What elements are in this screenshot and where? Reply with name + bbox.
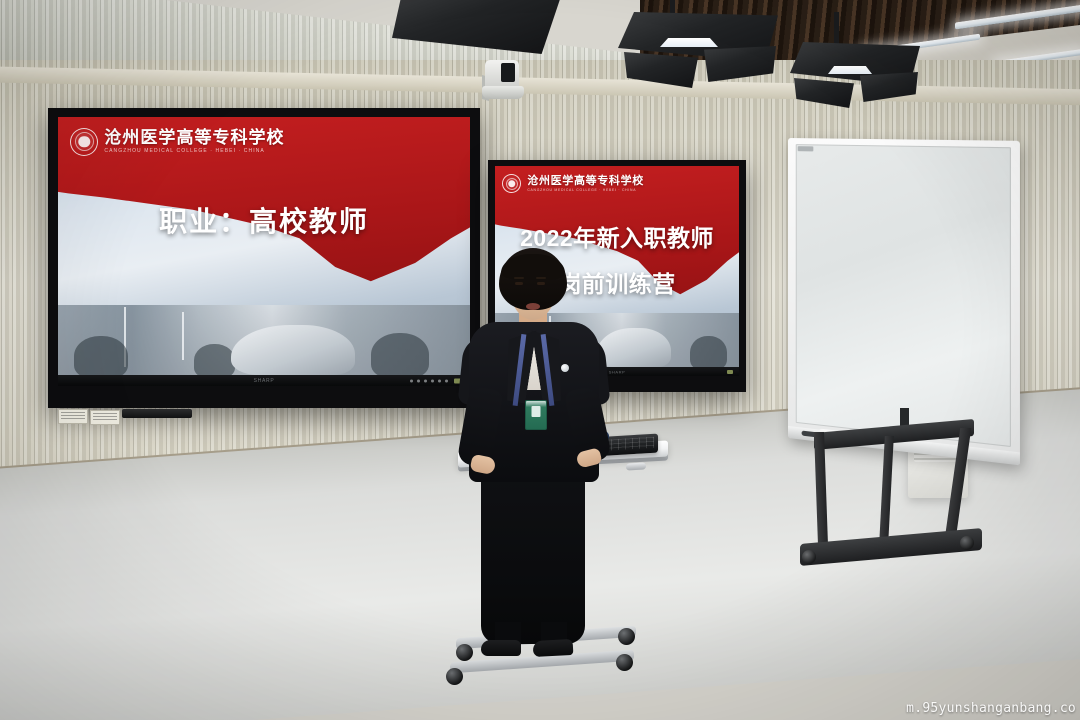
left-slide: 沧州医学高等专科学校 CANGZHOU MEDICAL COLLEGE · HE…	[58, 117, 470, 386]
classroom-photo-scene: 沧州医学高等专科学校 CANGZHOU MEDICAL COLLEGE · HE…	[0, 0, 1080, 720]
whiteboard-stand	[800, 418, 1010, 618]
studio-light-1	[392, 0, 562, 72]
presenter-eyebrow-left	[514, 277, 524, 279]
presenter-eye-left	[515, 282, 523, 285]
whiteboard-surface[interactable]	[796, 144, 1011, 447]
right-slide-school-name-cn: 沧州医学高等专科学校	[527, 175, 644, 187]
podium-height-adjust-knob[interactable]	[626, 462, 646, 470]
studio-light-2	[618, 4, 778, 100]
left-display-cable-tray	[122, 409, 192, 418]
left-slide-school-name-cn: 沧州医学高等专科学校	[104, 128, 284, 147]
photo-campus-stone	[231, 325, 355, 375]
presenter-mouth	[526, 303, 540, 310]
ptz-camera-base	[482, 86, 524, 99]
presenter-id-badge	[525, 400, 547, 430]
podium-caster-front-left	[446, 668, 463, 685]
photo-lamp-post-2	[182, 312, 184, 360]
equipment-label-sticker-1	[58, 409, 88, 424]
left-display-screen[interactable]: 沧州医学高等专科学校 CANGZHOU MEDICAL COLLEGE · HE…	[58, 117, 470, 386]
whiteboard-stand-leg-mid	[879, 436, 894, 544]
left-display-brand: SHARP	[254, 378, 275, 384]
left-slide-school-name-en: CANGZHOU MEDICAL COLLEGE · HEBEI · CHINA	[104, 147, 284, 156]
photo-tree-2	[194, 344, 235, 378]
whiteboard-caster-left	[802, 550, 816, 564]
presenter-skirt	[481, 472, 585, 644]
school-crest-icon	[70, 128, 98, 156]
presenter-eye-right	[537, 282, 545, 285]
whiteboard-caster-right	[960, 536, 974, 550]
watermark: m.95yunshanganbang.co	[906, 701, 1076, 716]
podium-caster-rear-right	[618, 628, 635, 645]
whiteboard-brand-logo	[798, 146, 814, 151]
presenter-lapel-pin-icon	[561, 364, 569, 372]
ptz-camera-icon	[482, 60, 524, 104]
photo-tree-3	[371, 333, 429, 378]
podium-caster-front-right	[616, 654, 633, 671]
podium-caster-rear-left	[456, 644, 473, 661]
school-crest-icon	[502, 174, 521, 193]
presenter-shoe-right	[533, 639, 574, 657]
whiteboard-assembly	[778, 138, 1028, 598]
right-slide-school-name-en: CANGZHOU MEDICAL COLLEGE · HEBEI · CHINA	[527, 187, 644, 193]
presenter-shoe-left	[481, 640, 521, 656]
left-display-bottom-bezel: SHARP	[58, 375, 470, 386]
left-slide-campus-photo	[58, 305, 470, 386]
left-display-control-buttons[interactable]	[410, 379, 448, 382]
presenter-hair-fringe	[501, 254, 565, 280]
left-slide-school-header: 沧州医学高等专科学校 CANGZHOU MEDICAL COLLEGE · HE…	[70, 128, 284, 156]
left-slide-title: 职业：高校教师	[58, 200, 470, 240]
whiteboard-stand-upper-shelf	[814, 419, 974, 450]
left-display-panel[interactable]: 沧州医学高等专科学校 CANGZHOU MEDICAL COLLEGE · HE…	[48, 108, 480, 408]
ptz-camera-head	[485, 60, 519, 88]
ptz-camera-lens	[501, 63, 515, 82]
photo-tree-1	[74, 336, 128, 378]
studio-light-3	[790, 38, 920, 126]
photo-tree-b	[690, 336, 727, 370]
presenter-eyebrow-right	[536, 277, 546, 279]
right-display-ir-receiver	[727, 370, 733, 374]
right-slide-school-header: 沧州医学高等专科学校 CANGZHOU MEDICAL COLLEGE · HE…	[502, 174, 644, 193]
equipment-label-sticker-2	[90, 410, 120, 425]
